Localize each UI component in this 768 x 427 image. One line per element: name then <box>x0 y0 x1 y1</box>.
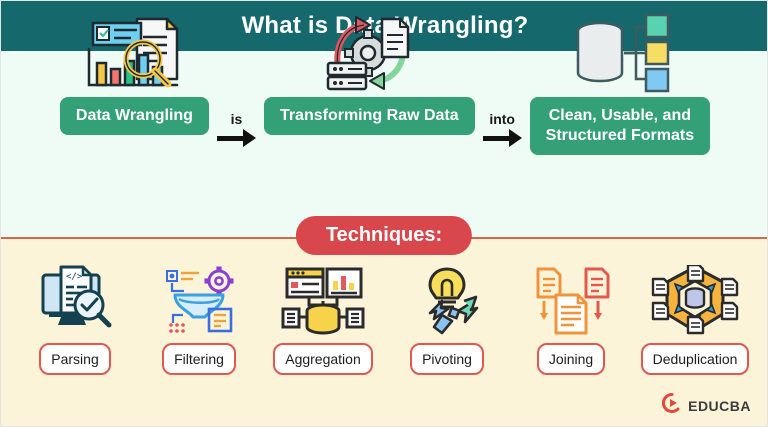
flow-diagram: Data Wrangling is <box>1 9 768 189</box>
technique-card-deduplication: Deduplication <box>639 263 751 375</box>
hexagon-network-database-icon <box>651 263 739 335</box>
technique-label-aggregation: Aggregation <box>273 343 373 375</box>
techniques-list: </> Parsing <box>1 263 768 375</box>
technique-card-parsing: </> Parsing <box>19 263 131 375</box>
flow-connector-is: is <box>209 9 264 161</box>
educba-logo: EDUCBA <box>662 393 751 418</box>
flow-node-transforming: Transforming Raw Data <box>264 9 475 135</box>
technique-card-pivoting: Pivoting <box>391 263 503 375</box>
connector-label-into: into <box>489 111 515 127</box>
technique-card-aggregation: Aggregation <box>267 263 379 375</box>
technique-label-parsing: Parsing <box>39 343 110 375</box>
flow-label-transforming: Transforming Raw Data <box>264 97 475 135</box>
flow-node-data-wrangling: Data Wrangling <box>60 9 209 135</box>
code-parsing-monitor-icon: </> <box>35 263 115 335</box>
right-arrow-icon <box>217 129 256 147</box>
technique-label-deduplication: Deduplication <box>641 343 750 375</box>
data-transformation-icon <box>320 9 418 97</box>
educba-wordmark: EDUCBA <box>688 398 751 414</box>
techniques-badge: Techniques: <box>296 216 472 255</box>
technique-label-pivoting: Pivoting <box>410 343 484 375</box>
connector-label-is: is <box>231 111 243 127</box>
funnel-filter-icon <box>159 263 239 335</box>
flow-label-data-wrangling: Data Wrangling <box>60 97 209 135</box>
technique-card-filtering: Filtering <box>143 263 255 375</box>
database-aggregation-icon <box>279 263 367 335</box>
technique-label-joining: Joining <box>537 343 605 375</box>
svg-text:</>: </> <box>66 272 83 282</box>
right-arrow-icon <box>483 129 522 147</box>
data-analysis-icon <box>75 9 193 97</box>
flow-connector-into: into <box>475 9 530 161</box>
flow-label-clean-formats: Clean, Usable, and Structured Formats <box>530 97 710 155</box>
documents-merge-icon <box>530 263 612 335</box>
flow-node-clean-formats: Clean, Usable, and Structured Formats <box>530 9 710 155</box>
technique-card-joining: Joining <box>515 263 627 375</box>
technique-label-filtering: Filtering <box>162 343 236 375</box>
educba-logo-icon <box>662 393 682 418</box>
structured-database-icon <box>568 9 672 97</box>
infographic-poster: What is Data Wrangling? <box>0 0 768 427</box>
lightbulb-arrows-icon <box>408 263 486 335</box>
